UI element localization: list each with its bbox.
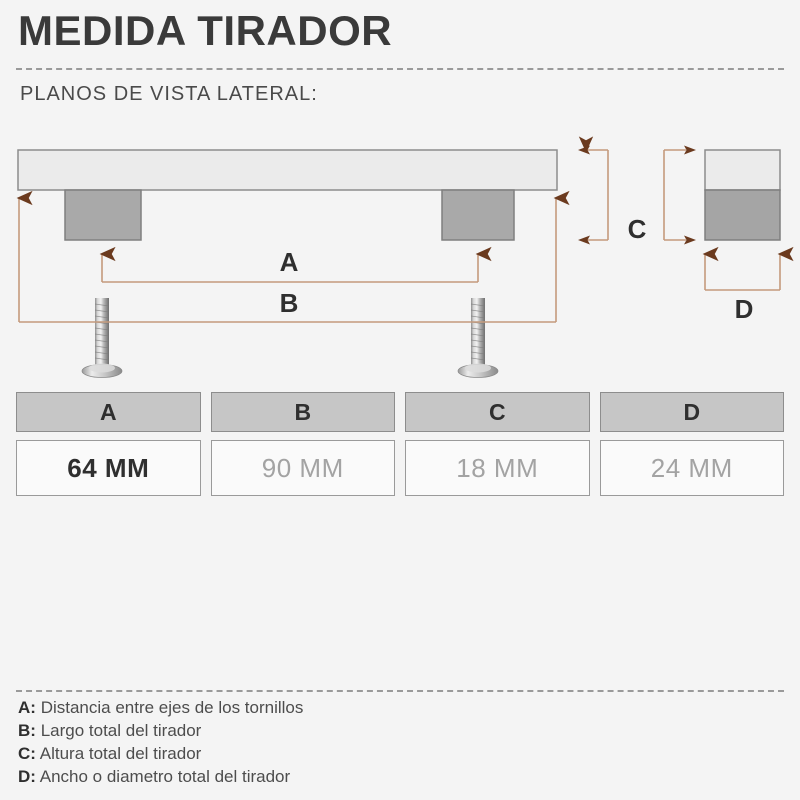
divider-top (16, 68, 784, 70)
legend-text-c: Altura total del tirador (40, 744, 202, 763)
legend-text-d: Ancho o diametro total del tirador (40, 767, 290, 786)
dimension-column-d: D 24 MM (600, 392, 785, 496)
end-view-height-arrowheads (684, 146, 696, 245)
dimension-column-b: B 90 MM (211, 392, 396, 496)
section-subtitle: PLANOS DE VISTA LATERAL: (20, 83, 318, 106)
dimension-header-c: C (405, 392, 590, 432)
dimension-c-label: C (628, 214, 647, 244)
measurement-sheet: MEDIDA TIRADOR PLANOS DE VISTA LATERAL: (0, 0, 800, 800)
legend-text-b: Largo total del tirador (41, 721, 202, 740)
handle-bar (18, 150, 557, 190)
dimension-value-d: 24 MM (600, 440, 785, 496)
dimension-header-b: B (211, 392, 396, 432)
legend-key-a: A: (18, 698, 36, 717)
dimension-header-a: A (16, 392, 201, 432)
dimension-c-arrowheads (578, 146, 590, 245)
legend-item-a: A: Distancia entre ejes de los tornillos (18, 696, 778, 719)
legend: A: Distancia entre ejes de los tornillos… (18, 696, 778, 788)
dimension-header-d: D (600, 392, 785, 432)
dimension-column-c: C 18 MM (405, 392, 590, 496)
legend-item-b: B: Largo total del tirador (18, 719, 778, 742)
technical-drawing: A B C (0, 130, 800, 390)
dimension-value-a: 64 MM (16, 440, 201, 496)
dimension-d-label: D (735, 294, 754, 324)
end-block (705, 150, 780, 240)
right-leg (442, 190, 514, 240)
dimension-b-label: B (280, 288, 299, 318)
dimension-a-label: A (280, 247, 299, 277)
dimension-d (705, 254, 780, 290)
left-screw (82, 298, 122, 378)
end-view-height-bracket (664, 150, 686, 240)
legend-item-d: D: Ancho o diametro total del tirador (18, 765, 778, 788)
dimension-table: A 64 MM B 90 MM C 18 MM D 24 MM (16, 392, 784, 496)
legend-item-c: C: Altura total del tirador (18, 742, 778, 765)
legend-key-b: B: (18, 721, 36, 740)
legend-key-d: D: (18, 767, 36, 786)
dimension-value-b: 90 MM (211, 440, 396, 496)
legend-text-a: Distancia entre ejes de los tornillos (41, 698, 304, 717)
right-screw (458, 298, 498, 378)
dimension-column-a: A 64 MM (16, 392, 201, 496)
legend-key-c: C: (18, 744, 36, 763)
dimension-c (586, 150, 608, 240)
dimension-value-c: 18 MM (405, 440, 590, 496)
page-title: MEDIDA TIRADOR (18, 8, 392, 54)
left-leg (65, 190, 141, 240)
divider-bottom (16, 690, 784, 692)
